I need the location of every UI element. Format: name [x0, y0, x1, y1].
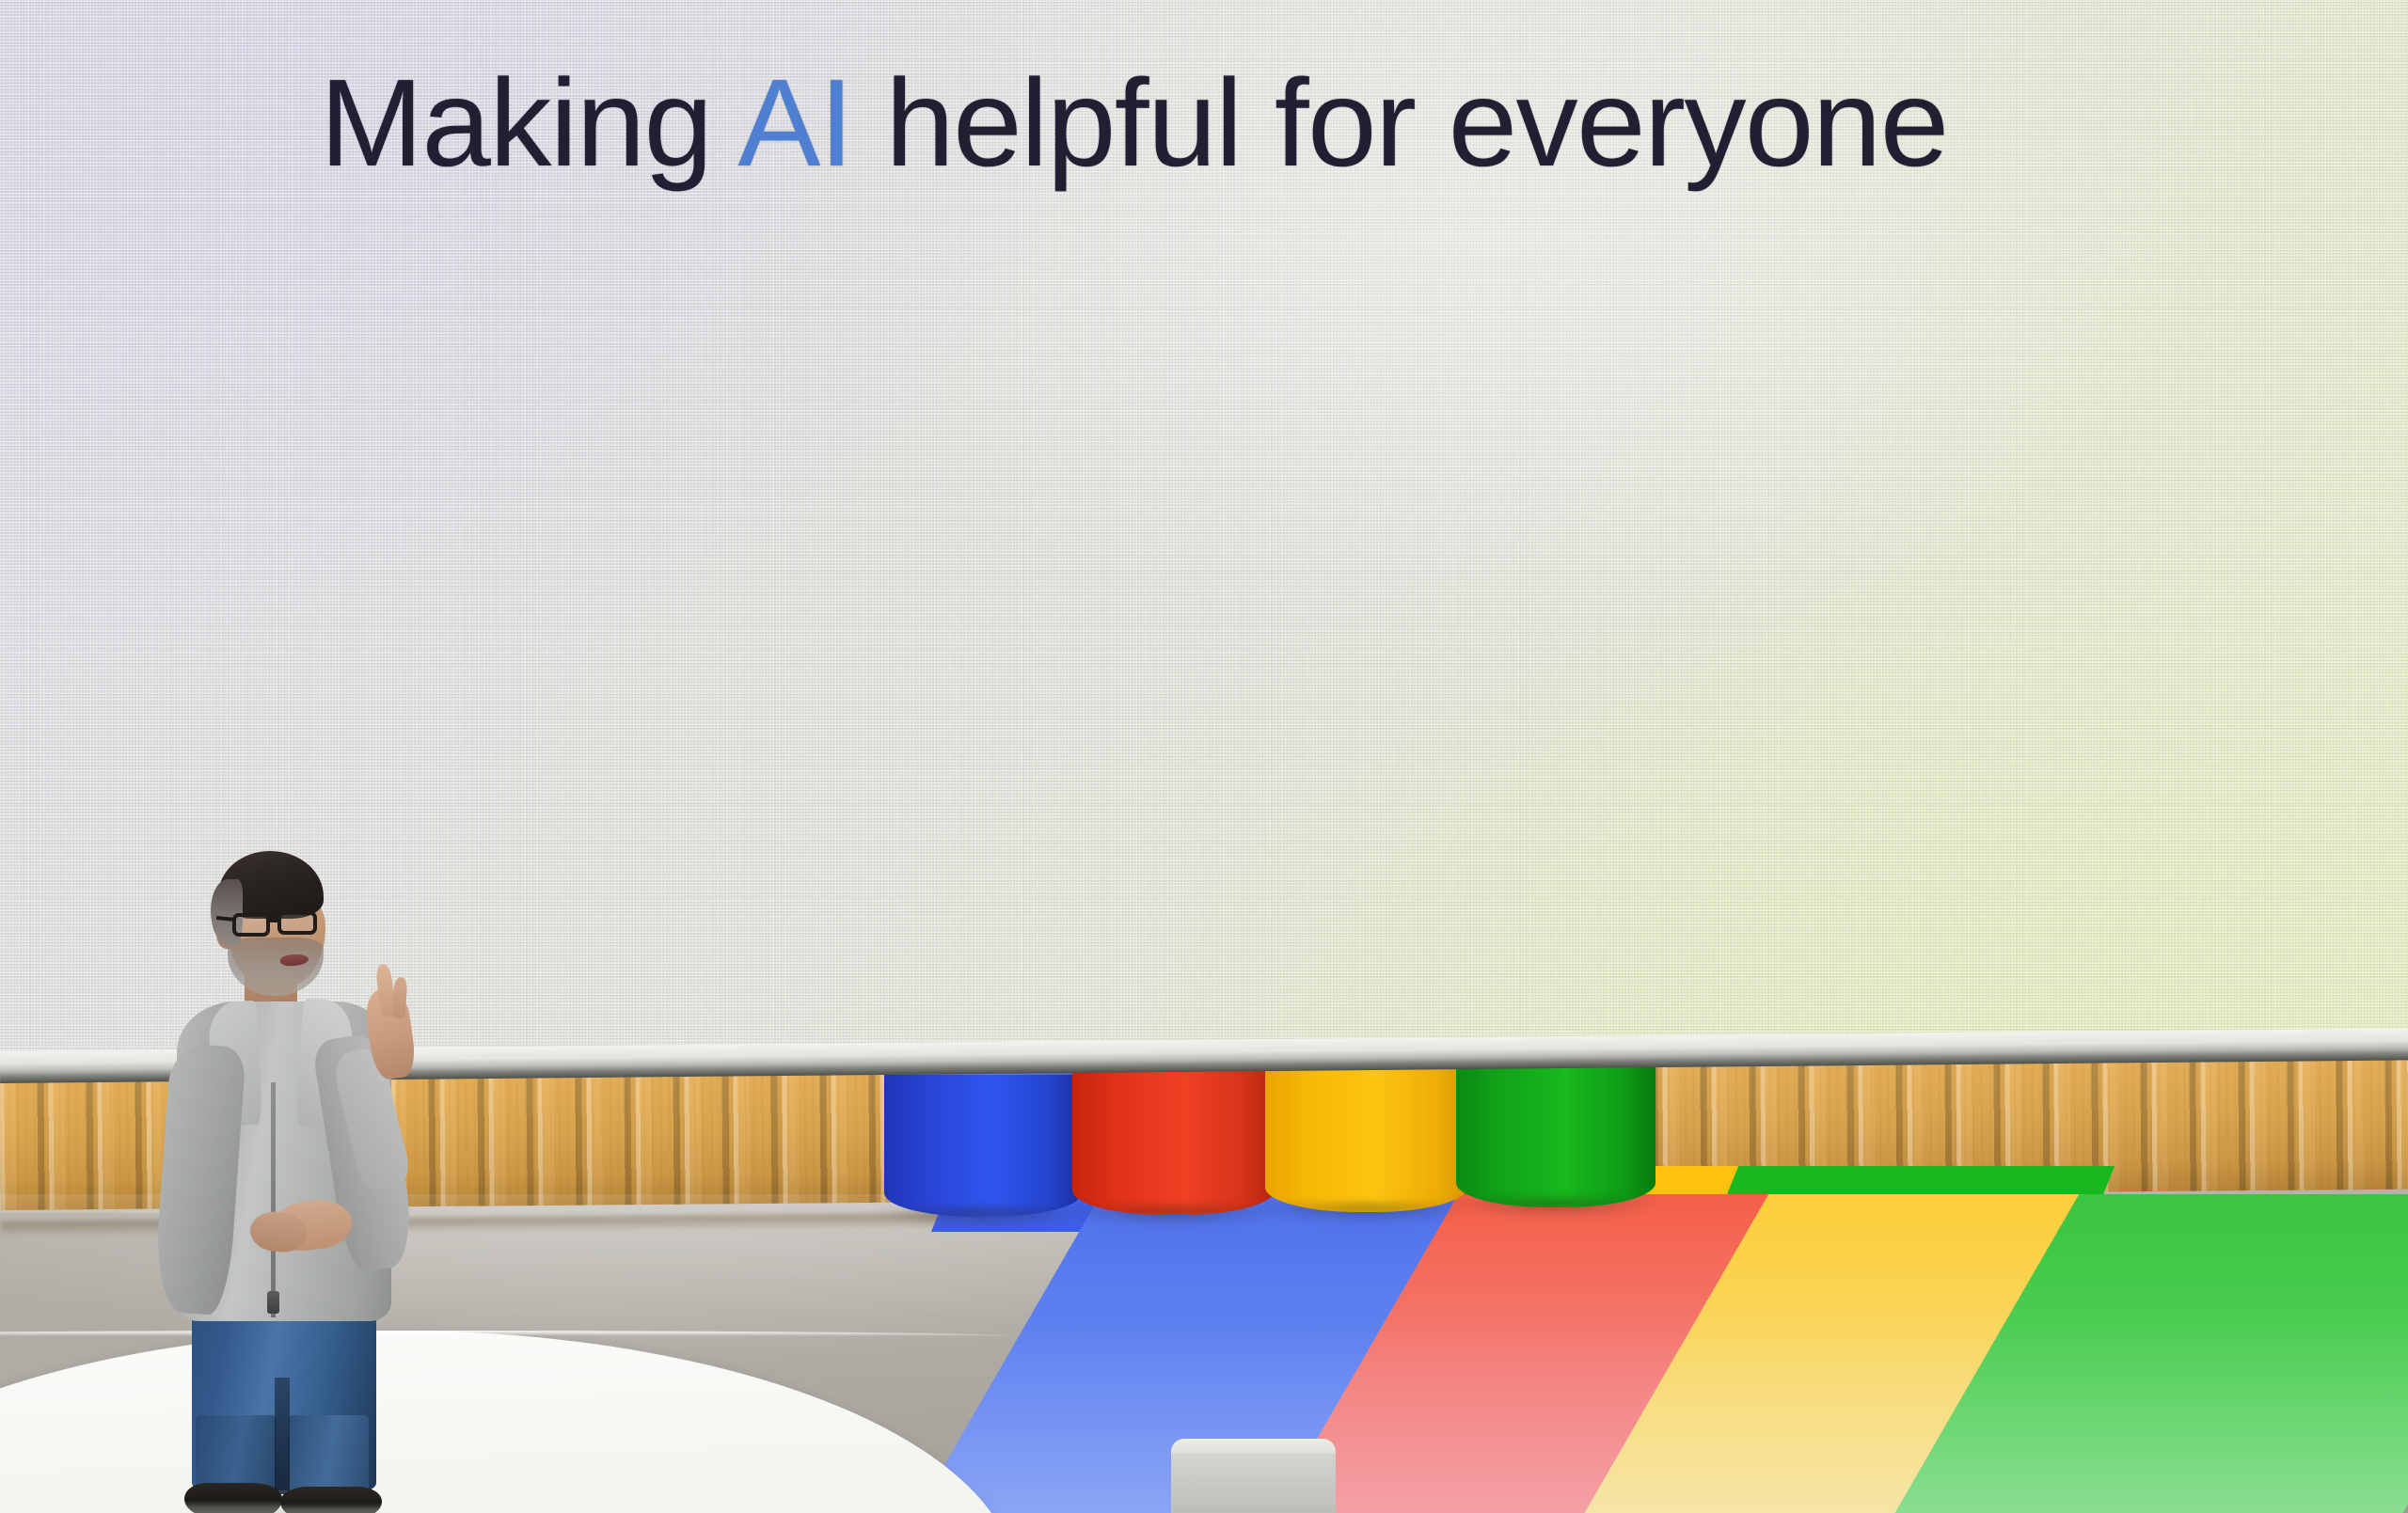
speaker-right-shoe: [280, 1487, 382, 1513]
speaker-figure: [141, 851, 451, 1513]
speaker-cardigan-zipper: [271, 1082, 276, 1317]
cylinder-yellow-shadow: [1259, 1203, 1473, 1223]
cylinder-red-shadow: [1067, 1206, 1280, 1226]
cylinder-green-shadow: [1450, 1198, 1661, 1219]
cylinder-green-body: [1456, 1053, 1655, 1207]
concrete-riser-block: [1171, 1439, 1336, 1513]
cylinder-yellow: [1265, 1057, 1467, 1212]
speaker-leg-gap-shadow: [275, 1378, 290, 1494]
speaker-left-shoe: [184, 1483, 282, 1513]
riser-top-face: [1171, 1439, 1336, 1454]
cylinder-red: [1072, 1061, 1275, 1215]
headline-text-after: helpful for everyone: [852, 54, 1948, 192]
cylinder-blue: [884, 1066, 1082, 1217]
cylinder-blue-body: [884, 1066, 1082, 1217]
eyeglasses-left-lens: [232, 913, 270, 937]
speaker-zipper-pull: [267, 1291, 279, 1314]
keynote-stage-photo: Making AI helpful for everyone: [0, 0, 2408, 1513]
speaker-beard: [228, 938, 324, 996]
cylinder-blue-shadow: [879, 1207, 1087, 1228]
eyeglasses-right-lens: [277, 911, 317, 935]
cylinder-red-body: [1072, 1061, 1275, 1215]
slide-headline: Making AI helpful for everyone: [320, 58, 2201, 187]
cylinder-green: [1456, 1053, 1655, 1207]
eyeglasses-bridge: [269, 919, 279, 922]
headline-text-before: Making: [320, 54, 737, 192]
headline-highlight-ai: AI: [737, 54, 852, 192]
cylinder-yellow-body: [1265, 1057, 1467, 1212]
